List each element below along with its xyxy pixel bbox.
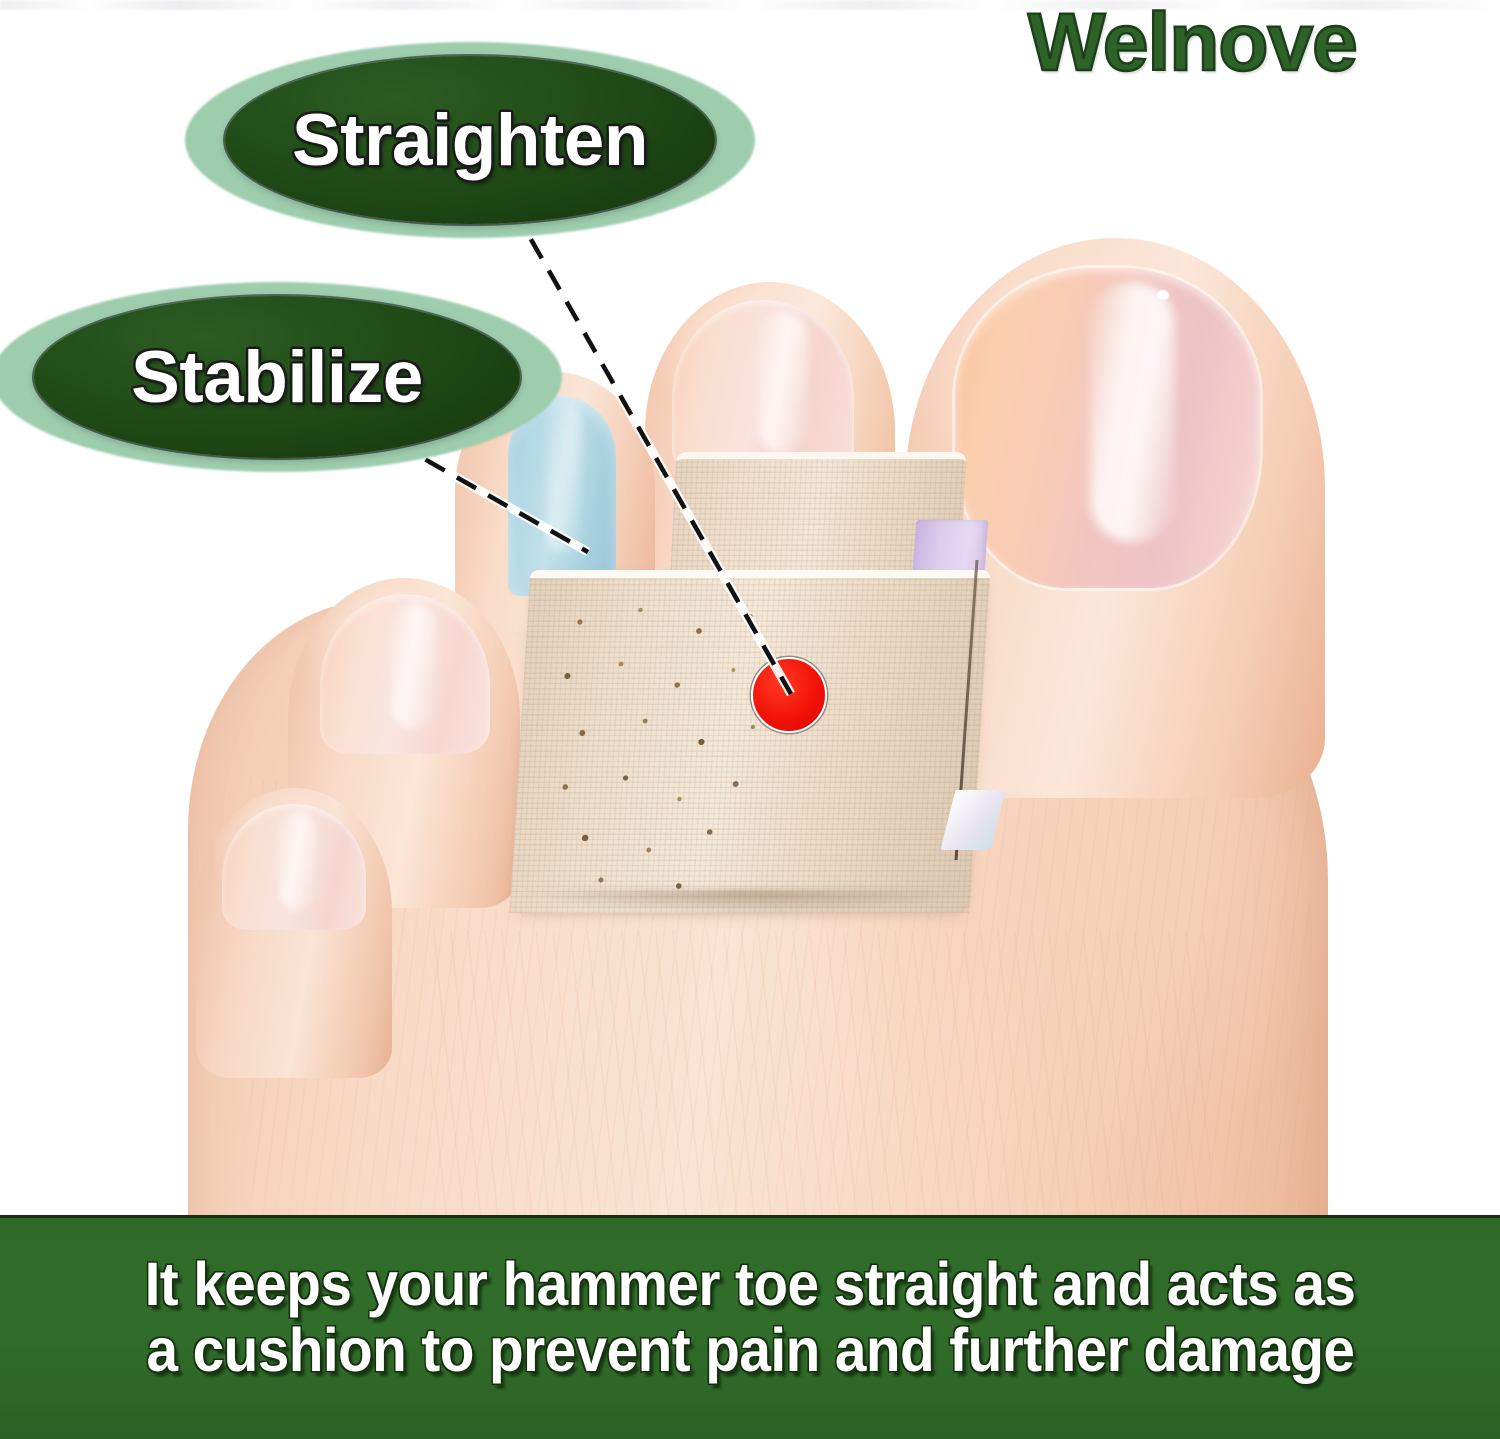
banner-line-1: It keeps your hammer toe straight and ac… (145, 1252, 1356, 1317)
banner-line-2: a cushion to prevent pain and further da… (146, 1318, 1354, 1383)
product-marketing-image: Straighten Stabilize Welnove It keeps yo… (0, 0, 1500, 1439)
brand-logo: Welnove (1028, 2, 1357, 84)
bottom-caption-banner: It keeps your hammer toe straight and ac… (0, 1215, 1500, 1439)
badge-stabilize-label: Stabilize (131, 336, 423, 419)
badge-straighten[interactable]: Straighten (185, 42, 755, 238)
badge-straighten-label: Straighten (292, 99, 648, 182)
badge-stabilize[interactable]: Stabilize (0, 282, 562, 472)
